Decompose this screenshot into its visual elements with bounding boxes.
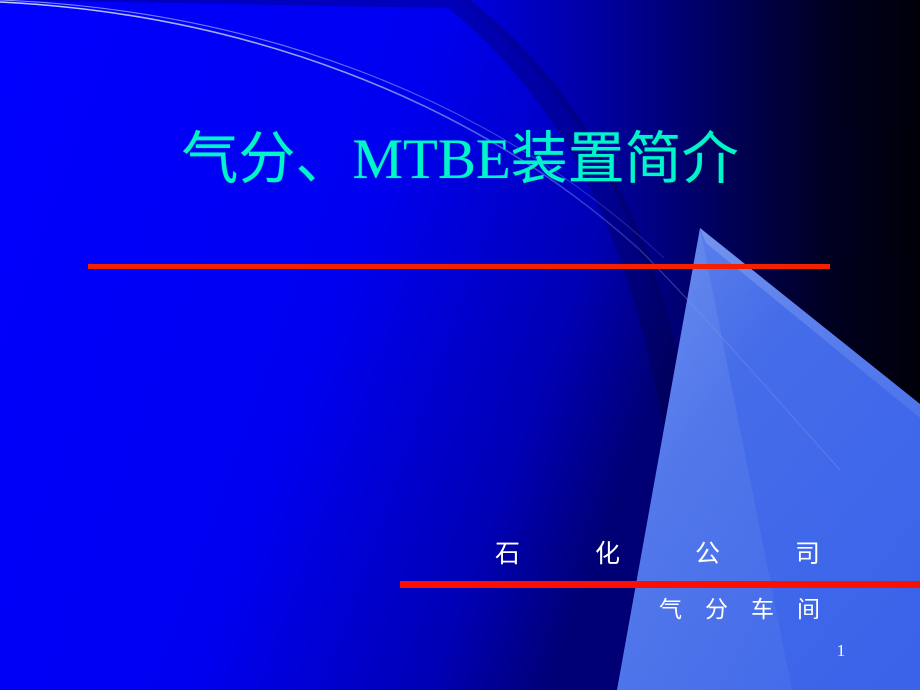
presentation-slide: 气分、MTBE装置简介 石 化 公 司 气 分 车 间 1 <box>0 0 920 690</box>
title-block: 气分、MTBE装置简介 <box>0 126 920 193</box>
divider-rule-bottom <box>400 581 920 588</box>
slide-number: 1 <box>830 641 852 661</box>
footer-department: 气 分 车 间 <box>420 590 820 624</box>
footer-organization: 石 化 公 司 <box>420 534 820 570</box>
page-title: 气分、MTBE装置简介 <box>181 126 738 193</box>
divider-rule-top <box>88 264 830 269</box>
